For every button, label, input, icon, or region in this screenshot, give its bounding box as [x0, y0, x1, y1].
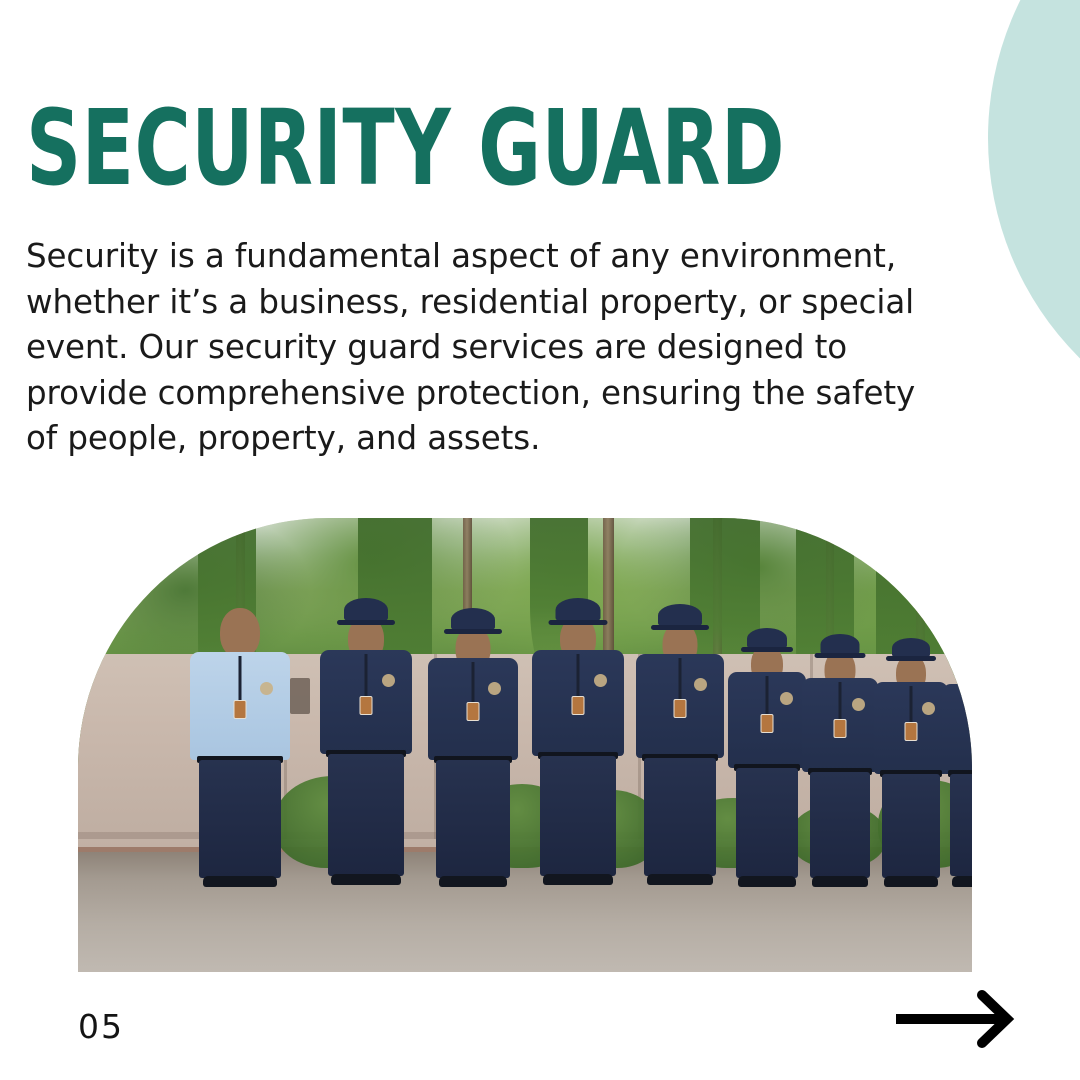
security-guards-photo — [78, 518, 972, 972]
person-guard-1 — [318, 600, 414, 886]
person-guard-4 — [634, 604, 726, 886]
slide-canvas: SECURITY GUARD Security is a fundamental… — [0, 0, 1080, 1080]
person-guard-6 — [800, 628, 880, 886]
person-guard-3 — [530, 600, 626, 886]
mint-circle-decoration — [988, 0, 1080, 448]
person-guard-5 — [726, 620, 808, 886]
next-arrow-button[interactable] — [890, 990, 1018, 1048]
page-number: 05 — [78, 1010, 124, 1043]
body-paragraph: Security is a fundamental aspect of any … — [26, 234, 926, 462]
person-guard-7 — [872, 634, 950, 886]
person-supervisor — [188, 608, 292, 886]
photo-scene — [78, 518, 972, 972]
person-guard-2 — [426, 606, 520, 886]
arrow-right-icon — [890, 990, 1018, 1048]
person-guard-8 — [940, 638, 972, 886]
page-title: SECURITY GUARD — [26, 96, 785, 200]
